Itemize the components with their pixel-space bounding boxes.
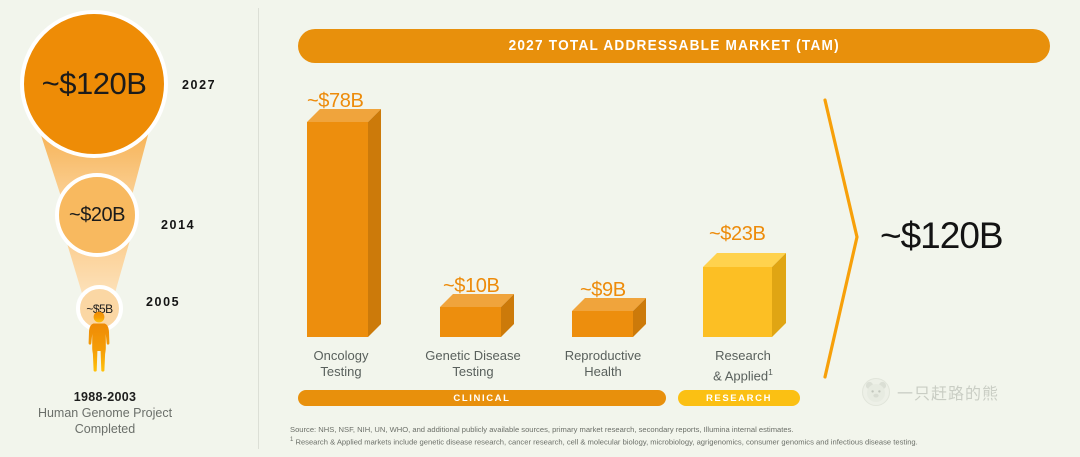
total-tam-value: ~$120B [880,215,1003,257]
category-label-line2: Testing [285,364,397,380]
hgp-year-range: 1988-2003 [0,390,210,404]
milestone-year-2005: 2005 [146,295,180,309]
tam-bar-chart: ~$78B ~$10B ~$9B ~$23B Oncology Testing … [285,80,825,350]
category-label-line1: Research [684,348,802,364]
hgp-description-line1: Human Genome Project [0,405,210,421]
slide-canvas: ~$120B ~$20B ~$5B 2027 2014 2005 1988-20… [0,0,1080,457]
category-label-line2: & Applied1 [684,364,802,384]
bar-genetic-disease-testing [440,294,514,337]
source-line: Source: NHS, NSF, NIH, UN, WHO, and addi… [290,424,1076,435]
hgp-description-line2: Completed [0,421,210,437]
bar-reproductive-health [572,298,646,337]
segment-label-research: RESEARCH [706,393,772,404]
segment-pill-research: RESEARCH [678,390,800,406]
source-notes: Source: NHS, NSF, NIH, UN, WHO, and addi… [290,424,1076,448]
category-label-genetic-disease-testing: Genetic Disease Testing [411,348,535,380]
bear-avatar-icon [862,378,890,406]
category-label-line2: Testing [411,364,535,380]
milestone-value-2014: ~$20B [69,204,125,227]
bar-value-reproductive-health: ~$9B [580,279,626,302]
tam-banner: 2027 TOTAL ADDRESSABLE MARKET (TAM) [298,29,1050,63]
category-label-oncology-testing: Oncology Testing [285,348,397,380]
chevron-right-bracket-icon [812,95,872,385]
bar-value-genetic-disease-testing: ~$10B [443,275,499,298]
milestone-circle-2014: ~$20B [55,173,139,257]
milestone-value-2027: ~$120B [42,66,147,102]
footnote-marker: 1 [768,367,773,377]
milestone-year-2027: 2027 [182,78,216,92]
watermark-text: 一只赶路的熊 [897,380,999,404]
watermark: 一只赶路的熊 [862,378,999,406]
bar-chart-graphic [285,80,825,350]
category-label-line2: Health [547,364,659,380]
milestone-circle-2027: ~$120B [20,10,168,158]
category-label-line1: Oncology [285,348,397,364]
market-growth-funnel: ~$120B ~$20B ~$5B 2027 2014 2005 1988-20… [0,0,258,457]
category-label-line1: Genetic Disease [411,348,535,364]
segment-pill-clinical: CLINICAL [298,390,666,406]
bar-oncology-testing [307,109,381,337]
tam-banner-title: 2027 TOTAL ADDRESSABLE MARKET (TAM) [508,38,839,54]
milestone-year-2014: 2014 [161,218,195,232]
person-silhouette-icon [85,310,113,372]
hgp-description: Human Genome Project Completed [0,405,210,437]
category-label-line1: Reproductive [547,348,659,364]
segment-label-clinical: CLINICAL [453,393,510,404]
panel-divider [258,8,259,449]
footnote-line: 1 Research & Applied markets include gen… [290,435,1076,448]
bar-value-research-and-applied: ~$23B [709,223,765,246]
category-label-research-and-applied: Research & Applied1 [684,348,802,384]
bar-research-and-applied [703,253,786,337]
bar-value-oncology-testing: ~$78B [307,90,363,113]
category-label-reproductive-health: Reproductive Health [547,348,659,380]
